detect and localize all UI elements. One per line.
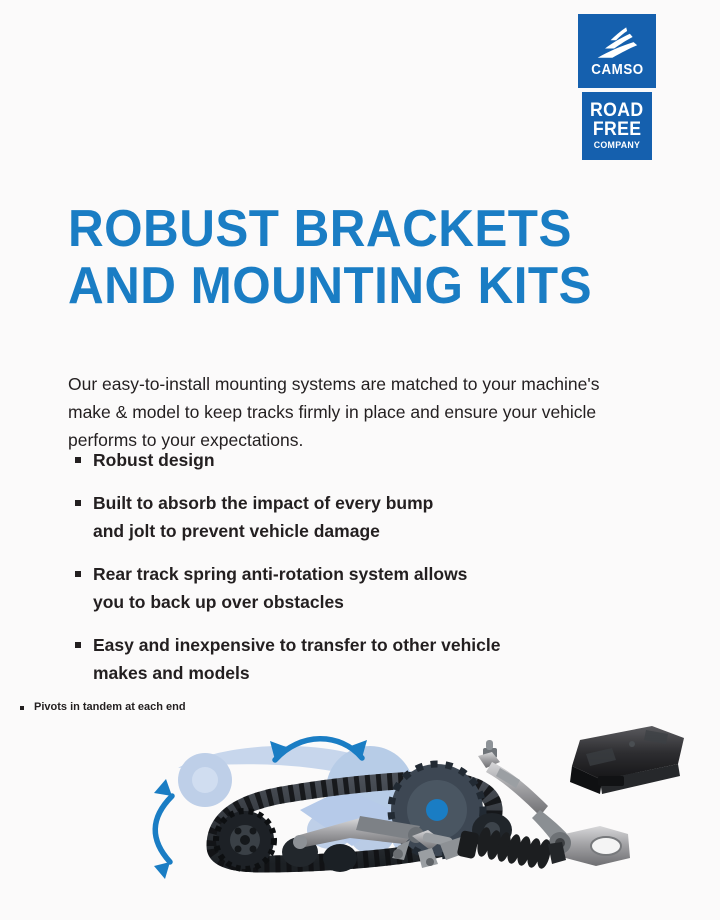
list-item-label: Built to absorb the impact of every bump… <box>93 489 634 545</box>
feature-bullet-list: Robust design Built to absorb the impact… <box>68 446 634 702</box>
list-item: Easy and inexpensive to transfer to othe… <box>68 631 634 687</box>
list-item: Built to absorb the impact of every bump… <box>68 489 634 545</box>
camso-logo-box: CAMSO <box>578 14 656 88</box>
list-item-label: Easy and inexpensive to transfer to othe… <box>93 631 634 687</box>
camso-wordmark: CAMSO <box>591 63 643 78</box>
list-item: Rear track spring anti-rotation system a… <box>68 560 634 616</box>
square-bullet-icon <box>75 642 81 648</box>
figure-caption-label: Pivots in tandem at each end <box>34 701 186 713</box>
list-item-label: Rear track spring anti-rotation system a… <box>93 560 634 616</box>
brand-logo-stack: CAMSO ROAD FREE COMPANY <box>578 14 656 160</box>
camso-mountain-mark-icon <box>594 26 640 60</box>
idler-wheel <box>216 811 274 869</box>
mounting-bracket-photo <box>570 726 684 794</box>
list-item: Robust design <box>68 446 634 474</box>
list-item-label: Robust design <box>93 446 634 474</box>
square-bullet-icon <box>75 571 81 577</box>
badge-line-free: FREE <box>593 121 642 140</box>
square-bullet-icon <box>75 500 81 506</box>
pivot-arrow-left <box>154 779 172 879</box>
figure-graphics <box>0 718 720 893</box>
square-bullet-icon <box>75 457 81 463</box>
page-title-line-2: AND MOUNTING KITS <box>68 258 562 315</box>
page-title-line-1: ROBUST BRACKETS <box>68 201 562 258</box>
badge-line-company: COMPANY <box>594 141 640 150</box>
intro-paragraph: Our easy-to-install mounting systems are… <box>68 370 634 454</box>
figure-caption: Pivots in tandem at each end <box>18 701 186 713</box>
square-bullet-icon <box>20 706 24 710</box>
road-free-company-badge: ROAD FREE COMPANY <box>582 92 652 160</box>
product-figure-area <box>0 718 720 893</box>
page-title: ROBUST BRACKETS AND MOUNTING KITS <box>68 201 562 315</box>
